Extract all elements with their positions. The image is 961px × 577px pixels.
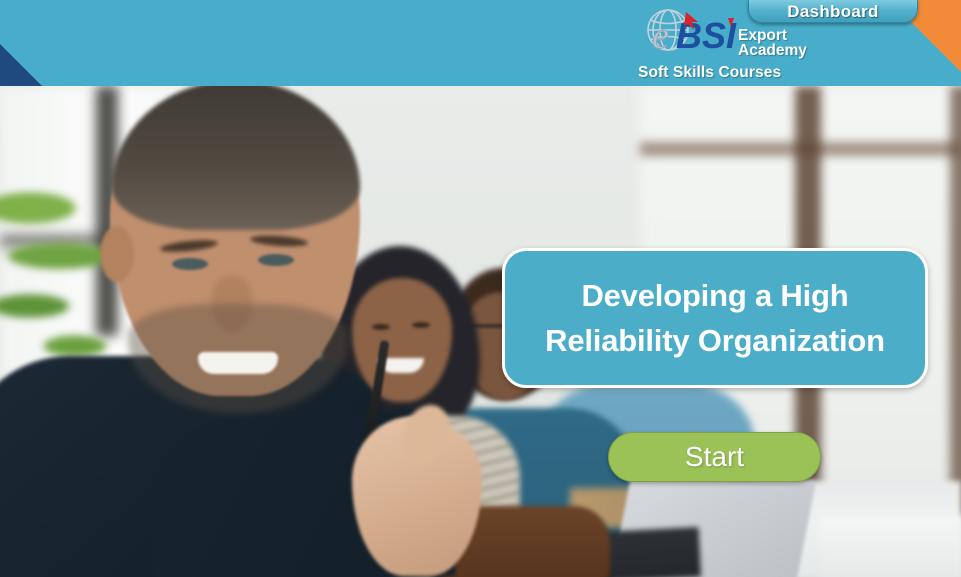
photo-foreground-man-smile (198, 352, 278, 374)
start-button[interactable]: Start (608, 432, 821, 482)
photo-beam-vertical-2 (950, 86, 961, 516)
site-header: Dashboard e BSI (0, 0, 961, 86)
brand-logo[interactable]: e BSI Export Academy Soft Skills Courses (636, 6, 876, 82)
course-slide-stage: Dashboard e BSI (0, 0, 961, 577)
header-corner-navy-accent (0, 44, 42, 86)
photo-papers (820, 516, 961, 577)
start-button-label: Start (685, 441, 744, 473)
course-title-card: Developing a High Reliability Organizati… (502, 248, 928, 388)
brand-tagline: Soft Skills Courses (638, 64, 781, 82)
photo-person-woman-eye-right (412, 322, 430, 328)
brand-academy-label: Academy (738, 43, 807, 58)
photo-foreground-man-eye-left (172, 258, 208, 270)
course-title-text: Developing a High Reliability Organizati… (505, 273, 925, 363)
photo-person-woman-eye-left (372, 324, 390, 330)
photo-foreground-man-ear (100, 226, 134, 282)
brand-logo-wordmark: Export Academy (738, 28, 807, 58)
brand-export-label: Export (738, 28, 807, 43)
photo-foreground-man-eye-right (258, 254, 294, 266)
svg-text:e: e (652, 15, 669, 56)
